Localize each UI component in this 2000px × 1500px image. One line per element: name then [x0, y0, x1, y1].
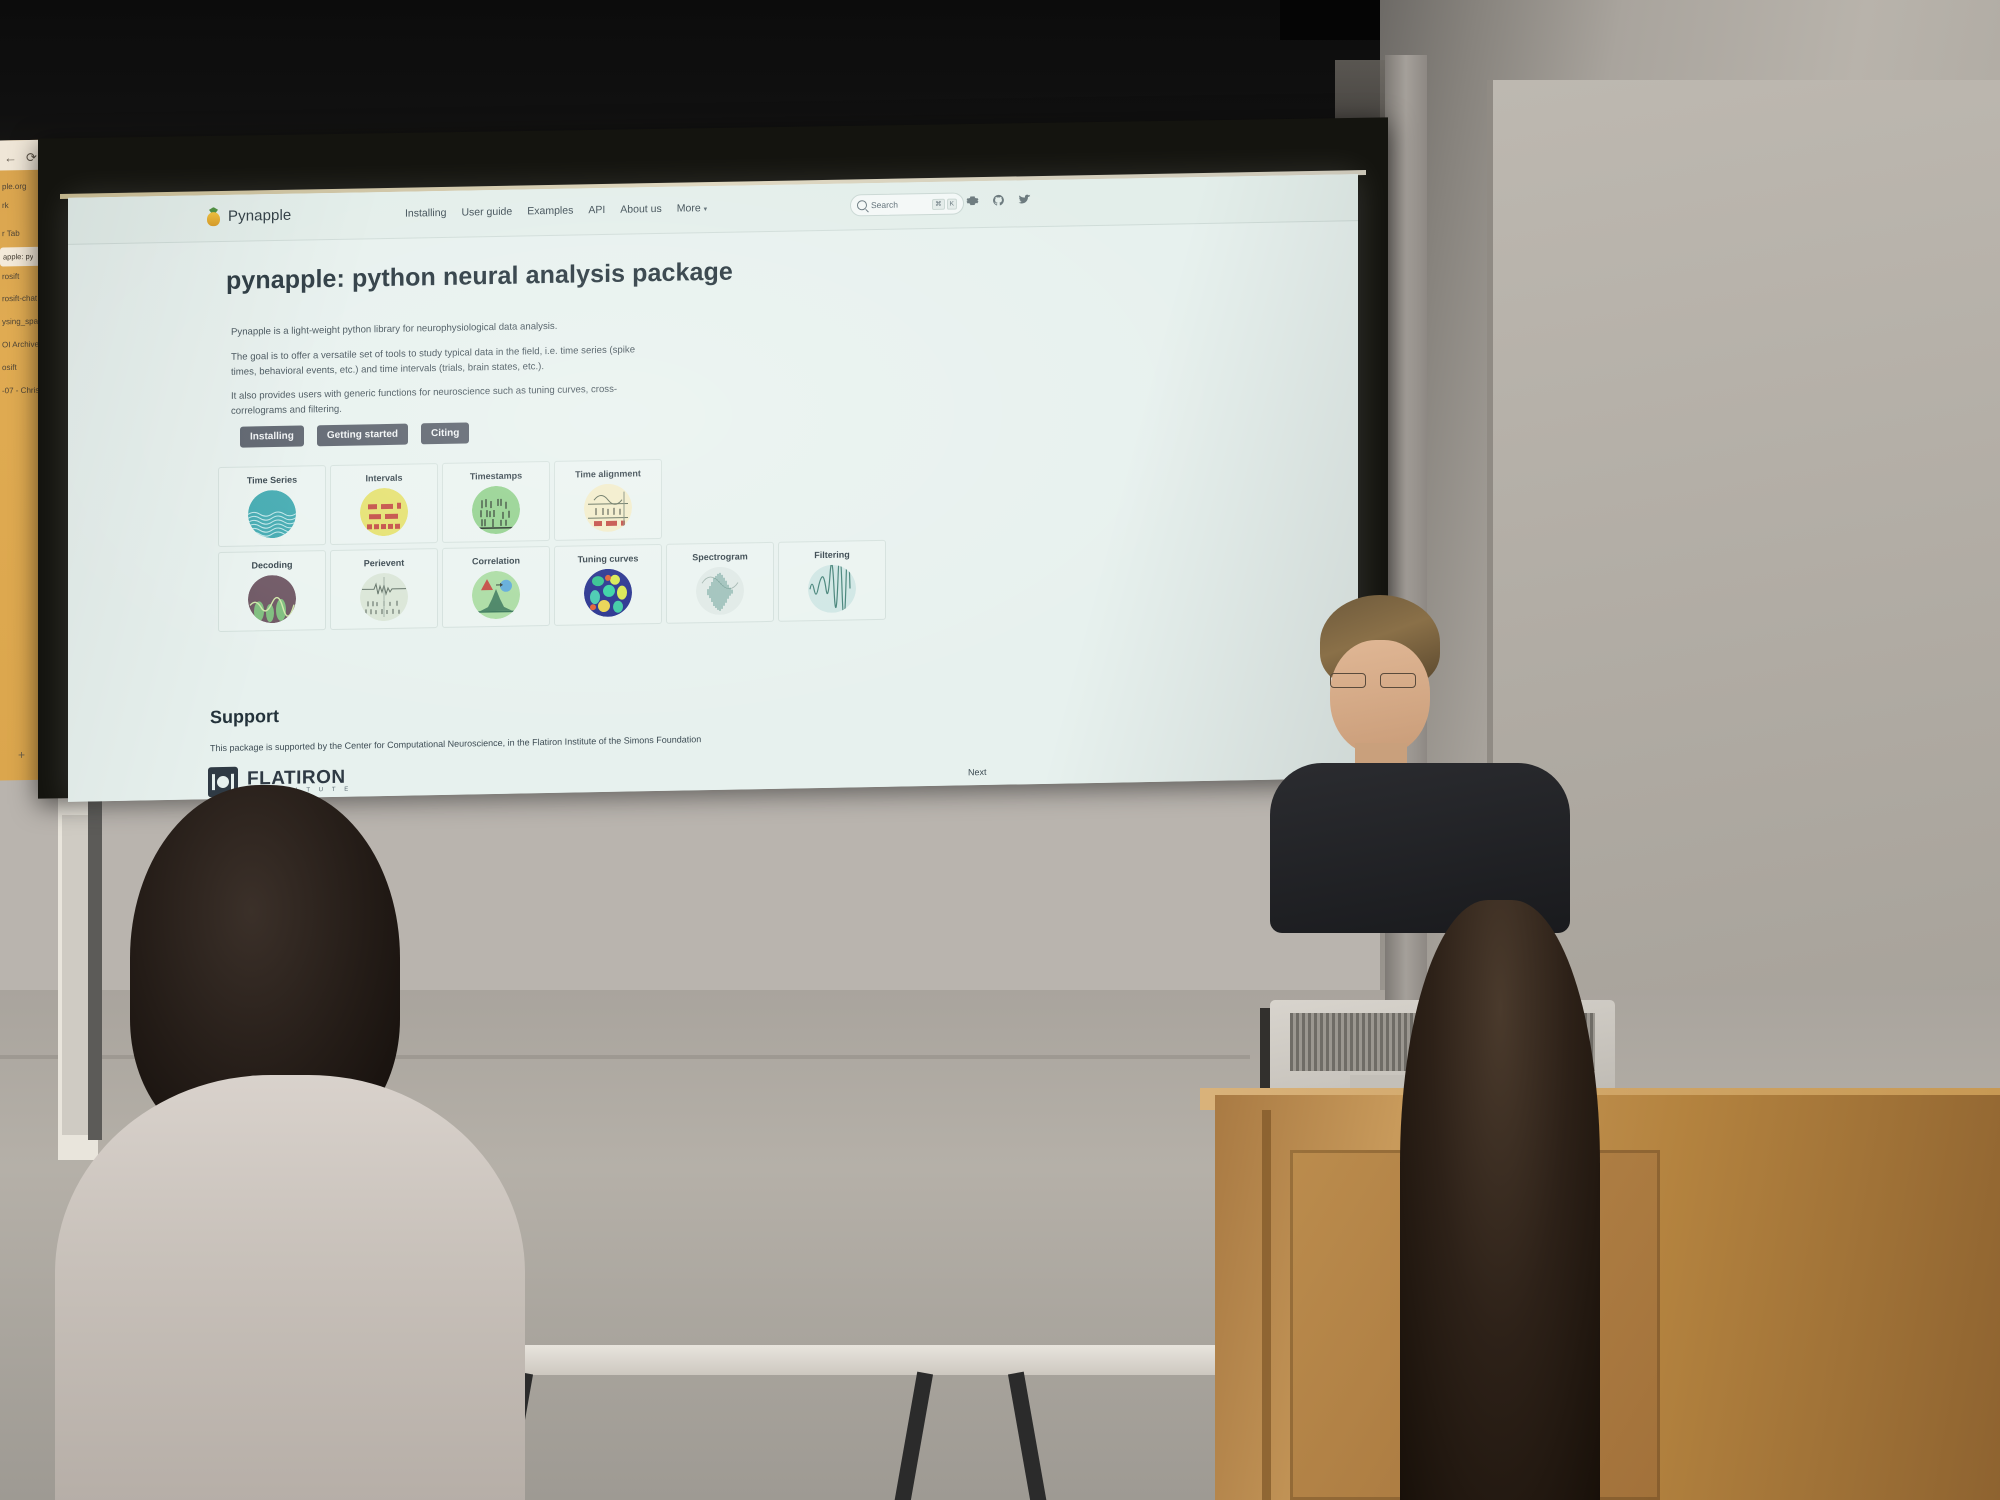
audience-member-head-right — [1400, 900, 1600, 1500]
back-icon[interactable]: ← — [4, 150, 17, 166]
new-tab-icon[interactable]: + — [18, 748, 25, 762]
perievent-thumb — [360, 573, 408, 622]
github-icon[interactable] — [992, 194, 1005, 207]
card-label: Timestamps — [470, 470, 522, 481]
page-title: pynapple: python neural analysis package — [226, 258, 733, 296]
timestamps-thumb — [472, 486, 520, 535]
card-label: Intervals — [365, 473, 402, 484]
sidebar-list-item[interactable]: ysing_spati — [2, 317, 42, 327]
projection-screen: Pynapple Installing User guide Examples … — [68, 174, 1358, 802]
search-icon — [857, 200, 867, 210]
citing-button[interactable]: Citing — [421, 422, 469, 444]
nav-item-about-us[interactable]: About us — [620, 203, 661, 216]
decoding-thumb — [248, 575, 296, 624]
reload-icon[interactable]: ⟳ — [26, 150, 37, 166]
search-shortcut: ⌘K — [932, 198, 957, 209]
card-label: Correlation — [472, 556, 520, 567]
card-row-2: Decoding Perievent — [218, 537, 1018, 632]
nav-item-more[interactable]: More▾ — [677, 202, 707, 215]
sidebar-item[interactable]: r Tab — [2, 229, 20, 238]
search-placeholder: Search — [871, 199, 928, 210]
browser-nav-buttons[interactable]: ← ⟳ — [4, 150, 37, 167]
search-input[interactable]: Search ⌘K — [850, 192, 964, 216]
card-timestamps[interactable]: Timestamps — [442, 461, 550, 543]
podium-edge — [1262, 1110, 1271, 1500]
card-row-1: Time Series Intervals — [218, 452, 1018, 547]
speaker-face — [1330, 640, 1430, 755]
card-label: Time alignment — [575, 468, 641, 479]
brand-label: Pynapple — [228, 207, 291, 225]
doorway — [62, 815, 90, 1135]
filtering-thumb — [808, 564, 856, 613]
pineapple-icon — [206, 207, 221, 226]
audience-member-shoulders — [55, 1075, 525, 1500]
feature-card-grid: Time Series Intervals — [218, 452, 1018, 637]
chevron-down-icon: ▾ — [704, 206, 708, 213]
card-perievent[interactable]: Perievent — [330, 548, 438, 630]
spectrogram-thumb — [696, 566, 744, 615]
installing-button[interactable]: Installing — [240, 425, 304, 447]
next-link[interactable]: Next — [968, 767, 987, 777]
card-time-alignment[interactable]: Time alignment — [554, 459, 662, 541]
card-filtering[interactable]: Filtering — [778, 540, 886, 622]
table — [430, 1345, 1215, 1375]
sidebar-list-item[interactable]: osift — [2, 363, 17, 372]
correlation-thumb — [472, 571, 520, 620]
card-intervals[interactable]: Intervals — [330, 463, 438, 545]
sidebar-list-item[interactable]: rosift — [2, 272, 19, 281]
sidebar-list-item[interactable]: -07 - Chris — [2, 386, 39, 396]
nav-item-examples[interactable]: Examples — [527, 205, 573, 218]
timealignment-thumb — [584, 483, 632, 532]
card-spectrogram[interactable]: Spectrogram — [666, 542, 774, 624]
card-tuning-curves[interactable]: Tuning curves — [554, 544, 662, 626]
support-heading: Support — [210, 706, 279, 728]
pynapple-website: Pynapple Installing User guide Examples … — [68, 174, 1358, 802]
speaker-person — [1270, 595, 1570, 925]
card-label: Perievent — [364, 558, 405, 569]
intro-paragraph-1: Pynapple is a light-weight python librar… — [231, 319, 557, 340]
gear-icon[interactable] — [966, 194, 979, 207]
card-correlation[interactable]: Correlation — [442, 546, 550, 628]
sidebar-item[interactable]: rk — [2, 201, 9, 210]
card-label: Filtering — [814, 549, 850, 560]
card-time-series[interactable]: Time Series — [218, 465, 326, 547]
door-frame — [88, 800, 102, 1140]
sidebar-item[interactable]: ple.org — [2, 182, 26, 191]
timeseries-thumb — [248, 490, 296, 539]
card-decoding[interactable]: Decoding — [218, 550, 326, 632]
twitter-icon[interactable] — [1018, 193, 1031, 206]
nav-item-user-guide[interactable]: User guide — [461, 206, 512, 219]
card-label: Time Series — [247, 475, 297, 486]
intervals-thumb — [360, 488, 408, 537]
getting-started-button[interactable]: Getting started — [317, 424, 408, 447]
nav-icons[interactable] — [966, 193, 1031, 207]
speaker-glasses — [1328, 673, 1428, 686]
support-text: This package is supported by the Center … — [210, 734, 701, 753]
card-label: Spectrogram — [692, 551, 748, 562]
brand[interactable]: Pynapple — [206, 206, 291, 227]
nav-item-api[interactable]: API — [588, 204, 605, 216]
active-tab-label: apple: py — [3, 252, 33, 262]
cta-buttons[interactable]: Installing Getting started Citing — [240, 422, 469, 447]
nav-item-installing[interactable]: Installing — [405, 207, 446, 220]
intro-paragraph-2: The goal is to offer a versatile set of … — [231, 342, 651, 380]
lecture-hall-photo: ← ⟳ ple.org rk r Tab apple: py ✕ rosift … — [0, 0, 2000, 1500]
sidebar-list-item[interactable]: OI Archive — [2, 340, 39, 350]
tuningcurves-thumb — [584, 568, 632, 617]
intro-paragraph-3: It also provides users with generic func… — [231, 381, 651, 419]
card-label: Decoding — [251, 560, 292, 571]
card-label: Tuning curves — [578, 553, 639, 564]
sidebar-list-item[interactable]: rosift-chat — [2, 294, 37, 304]
